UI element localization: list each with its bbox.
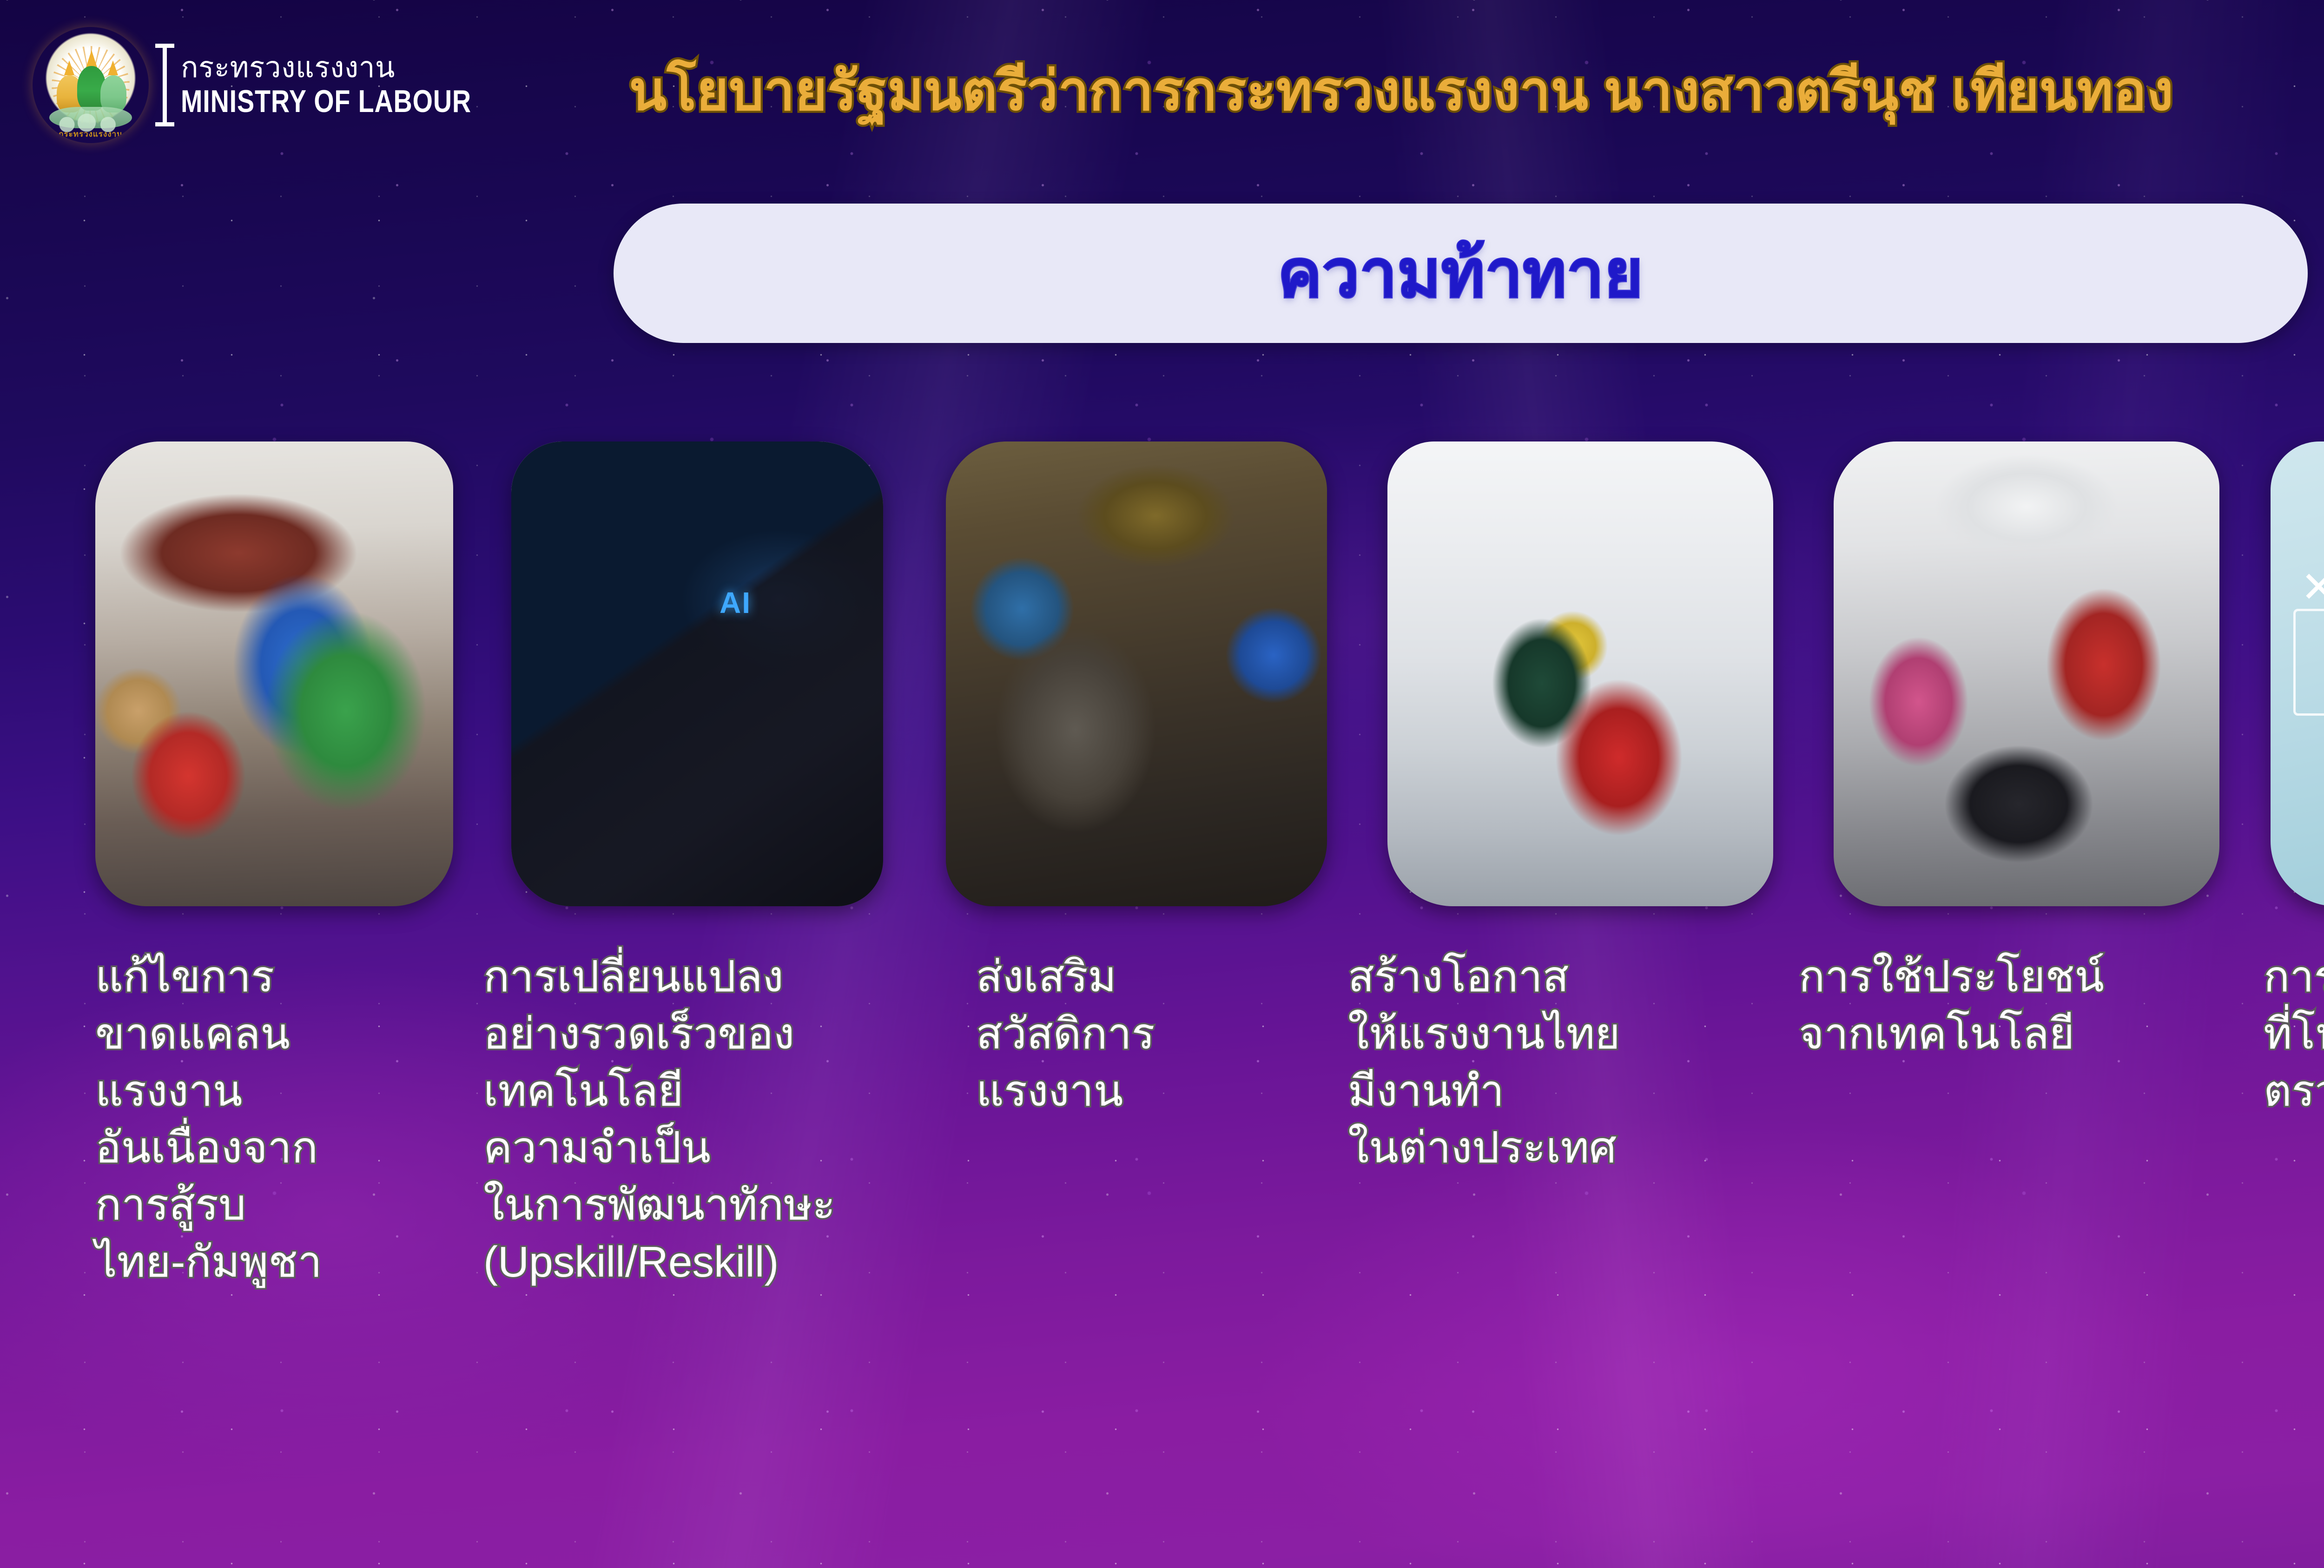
- challenge-caption: การดำเนินงาน ที่โปร่งใสและ ตรวจสอบได้: [2264, 948, 2324, 1119]
- checklist-sheet-left-icon: [2293, 609, 2324, 716]
- emblem-crown-left-icon: [64, 60, 74, 75]
- challenge-card[interactable]: [95, 441, 453, 906]
- presentation-slide: กระทรวงแรงงาน กระทรวงแรงงาน MINISTRY OF …: [0, 0, 2324, 1568]
- challenge-caption: ส่งเสริม สวัสดิการ แรงงาน: [976, 948, 1348, 1119]
- logo-bracket-divider: [163, 44, 167, 126]
- challenge-card[interactable]: [946, 441, 1327, 906]
- challenge-card[interactable]: [1387, 441, 1773, 906]
- airport-departure-workers-luggage-photo: [1387, 441, 1773, 906]
- ministry-emblem-icon: กระทรวงแรงงาน: [33, 27, 149, 143]
- section-title-text: ความท้าทาย: [1278, 221, 1644, 326]
- section-title-banner: ความท้าทาย: [614, 204, 2308, 343]
- emblem-crown-right-icon: [108, 60, 118, 75]
- challenge-card[interactable]: [511, 441, 883, 906]
- border-crossing-migrant-workers-photo: [95, 441, 453, 906]
- challenge-card[interactable]: ✕ ✕ ✔: [2271, 441, 2324, 906]
- registration-service-desks-laptops-photo: [1834, 441, 2219, 906]
- ministry-logo: กระทรวงแรงงาน กระทรวงแรงงาน MINISTRY OF …: [33, 27, 535, 143]
- logo-thai-name: กระทรวงแรงงาน: [181, 53, 535, 84]
- challenge-caption: การใช้ประโยชน์ จากเทคโนโลยี: [1799, 948, 2236, 1062]
- challenge-caption: การเปลี่ยนแปลง อย่างรวดเร็วของ เทคโนโลยี…: [483, 948, 948, 1291]
- challenge-card-row: ✕ ✕ ✔: [0, 441, 2324, 916]
- challenge-caption: สร้างโอกาส ให้แรงงานไทย มีงานทำ ในต่างปร…: [1348, 948, 1766, 1176]
- challenge-caption: แก้ไขการ ขาดแคลน แรงงาน อันเนื่องจาก การ…: [95, 948, 486, 1291]
- street-food-vendor-market-photo: [946, 441, 1327, 906]
- slide-header: กระทรวงแรงงาน กระทรวงแรงงาน MINISTRY OF …: [0, 0, 2324, 153]
- challenge-card[interactable]: [1834, 441, 2219, 906]
- cross-mark-left-icon: ✕: [2301, 562, 2324, 612]
- header-policy-title: นโยบายรัฐมนตรีว่าการกระทรวงแรงงาน นางสาว…: [502, 60, 2301, 122]
- emblem-arc-text: กระทรวงแรงงาน: [33, 128, 149, 140]
- magnifying-glass-checklist-audit-photo: ✕ ✕ ✔: [2271, 441, 2324, 906]
- logo-text-block: กระทรวงแรงงาน MINISTRY OF LABOUR: [181, 53, 535, 118]
- logo-english-name: MINISTRY OF LABOUR: [181, 86, 471, 118]
- laptop-ai-prompt-engineering-photo: [511, 441, 883, 906]
